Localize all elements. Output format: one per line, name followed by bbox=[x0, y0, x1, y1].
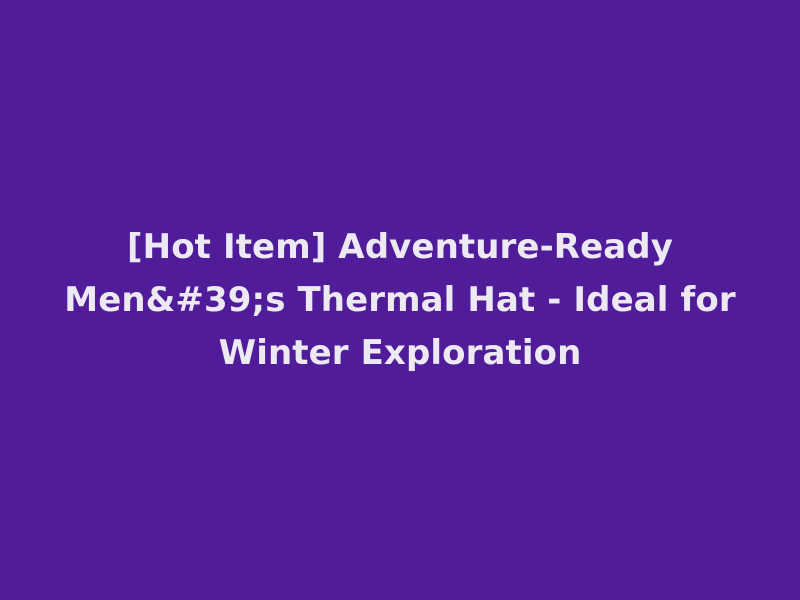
page-title: [Hot Item] Adventure-Ready Men&#39;s The… bbox=[64, 221, 736, 380]
title-card: [Hot Item] Adventure-Ready Men&#39;s The… bbox=[0, 0, 800, 600]
